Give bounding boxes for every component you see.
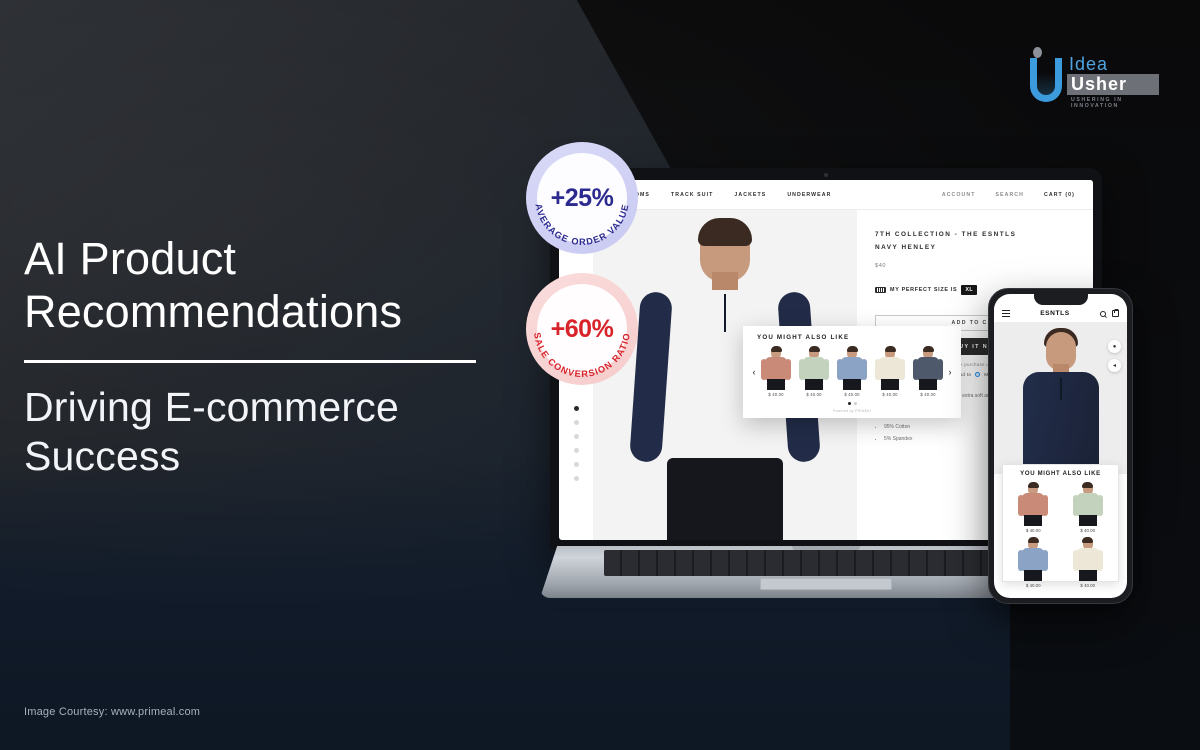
thumbnail-dot[interactable]	[574, 448, 579, 453]
reco-price: $ 40.00	[873, 392, 907, 397]
recommendation-carousel: ‹ $ 40.00	[749, 346, 955, 397]
phone-recommendation-panel: YOU MIGHT ALSO LIKE $ 40.00	[1002, 464, 1119, 582]
laptop-trackpad[interactable]	[760, 578, 892, 590]
phone-floating-actions: ● ◂	[1108, 340, 1121, 372]
phone-reco-card[interactable]: $ 40.00	[1063, 537, 1114, 588]
phone-reco-thumb	[1063, 482, 1114, 526]
powered-by-label: Powered by PRIMEAI	[749, 409, 955, 413]
phone-notch	[1034, 294, 1088, 305]
badge-caption-arc: AVERAGE ORDER VALUE	[526, 142, 638, 254]
phone-reco-price: $ 40.00	[1063, 528, 1114, 533]
thumbnail-dot[interactable]	[574, 420, 579, 425]
thumbnail-dot[interactable]	[574, 406, 579, 411]
recommendation-panel: YOU MIGHT ALSO LIKE ‹ $ 40.00	[743, 326, 961, 418]
model-placket	[724, 294, 726, 332]
thumbnail-dot[interactable]	[574, 476, 579, 481]
phone-reco-price: $ 40.00	[1008, 583, 1059, 588]
reco-thumb	[873, 346, 907, 390]
phone-recommendation-title: YOU MIGHT ALSO LIKE	[1008, 471, 1113, 477]
site-navbar: TOPS BOTTOMS TRACK SUIT JACKETS UNDERWEA…	[559, 180, 1093, 210]
reco-price: $ 40.00	[797, 392, 831, 397]
reco-card[interactable]: $ 40.00	[911, 346, 945, 397]
phone-nav-icons	[1100, 310, 1119, 317]
perfect-size-value: XL	[961, 285, 977, 295]
phone-reco-thumb	[1008, 482, 1059, 526]
nav-item-underwear[interactable]: UNDERWEAR	[787, 192, 831, 198]
thumbnail-dot[interactable]	[574, 434, 579, 439]
hamburger-icon[interactable]	[1002, 310, 1010, 316]
phone-reco-card[interactable]: $ 40.00	[1008, 482, 1059, 533]
model-hair	[698, 218, 752, 246]
badge-sale-conversion-ratio: +60% SALE CONVERSION RATIO	[526, 273, 638, 385]
reco-card[interactable]: $ 40.00	[835, 346, 869, 397]
reco-card[interactable]: $ 40.00	[759, 346, 793, 397]
share-icon[interactable]: ◂	[1108, 359, 1121, 372]
reco-price: $ 40.00	[911, 392, 945, 397]
chevron-left-icon[interactable]: ‹	[749, 367, 759, 377]
reco-price: $ 40.00	[759, 392, 793, 397]
idea-usher-u-icon	[1030, 58, 1062, 102]
svg-text:SALE CONVERSION RATIO: SALE CONVERSION RATIO	[532, 332, 632, 379]
product-collection: 7TH COLLECTION - THE ESNTLS	[875, 228, 1079, 241]
headline-block: AI Product Recommendations Driving E-com…	[24, 232, 494, 482]
carousel-dots	[749, 402, 955, 405]
slide-canvas: Idea Usher USHERING IN INNOVATION AI Pro…	[0, 0, 1200, 750]
search-icon[interactable]	[1100, 311, 1106, 317]
title-divider	[24, 360, 476, 363]
laptop-keyboard	[604, 550, 1048, 576]
phone-navbar: ESNTLS	[994, 305, 1127, 322]
carousel-dot[interactable]	[854, 402, 857, 405]
webcam-icon	[824, 173, 828, 177]
messenger-radio[interactable]	[975, 372, 980, 377]
reco-thumb	[797, 346, 831, 390]
phone-reco-price: $ 40.00	[1008, 528, 1059, 533]
phone-reco-card[interactable]: $ 40.00	[1063, 482, 1114, 533]
recommendation-title: YOU MIGHT ALSO LIKE	[757, 334, 955, 341]
logo-dot-icon	[1033, 47, 1042, 58]
logo-tagline: USHERING IN INNOVATION	[1071, 97, 1160, 109]
phone-reco-card[interactable]: $ 40.00	[1008, 537, 1059, 588]
chevron-right-icon[interactable]: ›	[945, 367, 955, 377]
carousel-dot[interactable]	[848, 402, 851, 405]
logo-text-usher: Usher	[1071, 74, 1127, 95]
phone-mockup: ESNTLS ● ◂ YOU MIGHT ALSO LIKE	[988, 288, 1133, 604]
shopping-bag-icon[interactable]	[1112, 310, 1119, 317]
product-name: NAVY HENLEY	[875, 241, 1079, 254]
thumbnail-dot[interactable]	[574, 462, 579, 467]
nav-cart-link[interactable]: CART (0)	[1044, 192, 1075, 198]
page-subtitle: Driving E-commerce Success	[24, 383, 494, 481]
phone-reco-grid: $ 40.00 $ 40.00	[1008, 482, 1113, 588]
nav-item-jackets[interactable]: JACKETS	[734, 192, 766, 198]
perfect-size-label: MY PERFECT SIZE IS	[890, 287, 957, 293]
nav-search-link[interactable]: SEARCH	[995, 192, 1024, 198]
info-icon[interactable]: ●	[1108, 340, 1121, 353]
phone-reco-thumb	[1063, 537, 1114, 581]
recommendation-cards: $ 40.00 $ 40.00	[759, 346, 945, 397]
page-title: AI Product Recommendations	[24, 232, 494, 338]
product-price: $40	[875, 263, 1079, 269]
badge-caption: AVERAGE ORDER VALUE	[533, 203, 630, 247]
phone-reco-thumb	[1008, 537, 1059, 581]
reco-price: $ 40.00	[835, 392, 869, 397]
phone-screen: ESNTLS ● ◂ YOU MIGHT ALSO LIKE	[994, 294, 1127, 598]
badge-caption-arc: SALE CONVERSION RATIO	[526, 273, 638, 385]
reco-thumb	[835, 346, 869, 390]
phone-model-illustration	[1015, 328, 1107, 474]
phone-reco-price: $ 40.00	[1063, 583, 1114, 588]
ruler-icon	[875, 287, 886, 293]
nav-utilities: ACCOUNT SEARCH CART (0)	[942, 192, 1075, 198]
reco-thumb	[759, 346, 793, 390]
badge-caption: SALE CONVERSION RATIO	[532, 332, 632, 379]
badge-average-order-value: +25% AVERAGE ORDER VALUE	[526, 142, 638, 254]
reco-card[interactable]: $ 40.00	[873, 346, 907, 397]
logo-text-idea: Idea	[1069, 54, 1108, 75]
svg-text:AVERAGE ORDER VALUE: AVERAGE ORDER VALUE	[533, 203, 630, 247]
reco-thumb	[911, 346, 945, 390]
image-credit: Image Courtesy: www.primeal.com	[24, 706, 200, 718]
brand-logo[interactable]: Idea Usher USHERING IN INNOVATION	[1030, 48, 1160, 110]
nav-item-track-suit[interactable]: TRACK SUIT	[671, 192, 713, 198]
reco-card[interactable]: $ 40.00	[797, 346, 831, 397]
phone-brand-title: ESNTLS	[1010, 310, 1100, 317]
nav-account-link[interactable]: ACCOUNT	[942, 192, 976, 198]
model-pants	[667, 458, 783, 540]
